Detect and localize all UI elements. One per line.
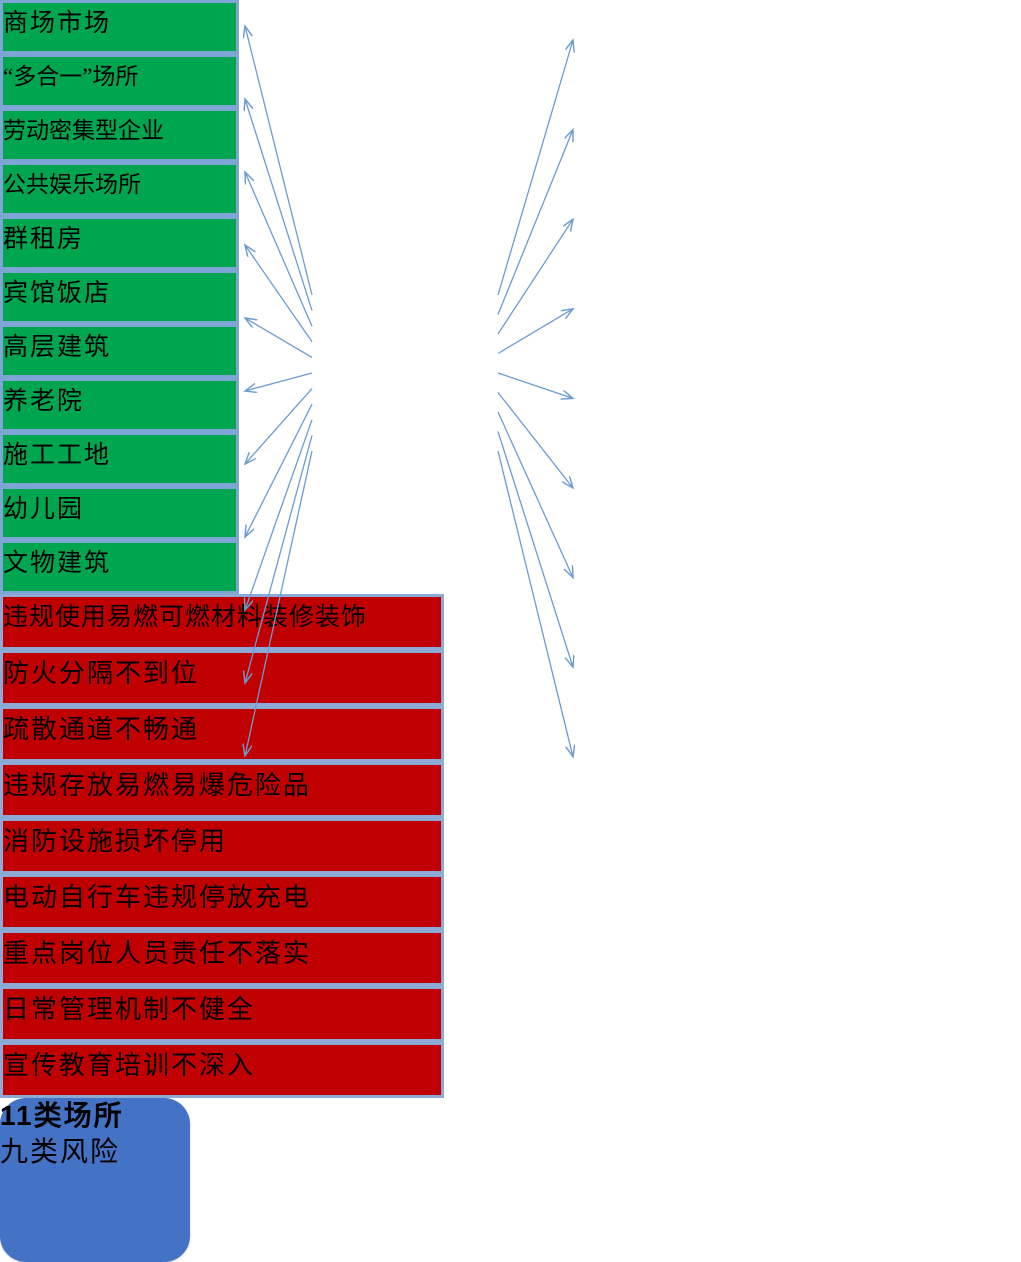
place-label: “多合一”场所 xyxy=(3,64,138,89)
place-node-1[interactable]: 商场市场 xyxy=(0,0,239,54)
place-label: 施工工地 xyxy=(3,442,111,469)
place-label: 高层建筑 xyxy=(3,334,111,361)
risk-node-8[interactable]: 日常管理机制不健全 xyxy=(0,986,444,1042)
center-hub-node[interactable]: 11类场所 九类风险 xyxy=(0,1098,190,1262)
risk-node-6[interactable]: 电动自行车违规停放充电 xyxy=(0,874,444,930)
place-node-7[interactable]: 高层建筑 xyxy=(0,324,239,378)
risk-node-5[interactable]: 消防设施损坏停用 xyxy=(0,818,444,874)
place-node-4[interactable]: 公共娱乐场所 xyxy=(0,162,239,216)
center-title-line2: 九类风险 xyxy=(0,1135,190,1172)
risk-node-3[interactable]: 疏散通道不畅通 xyxy=(0,706,444,762)
place-node-8[interactable]: 养老院 xyxy=(0,378,239,432)
place-label: 商场市场 xyxy=(3,10,111,37)
place-label: 幼儿园 xyxy=(3,496,84,523)
place-label: 群租房 xyxy=(3,226,84,253)
risk-node-4[interactable]: 违规存放易燃易爆危险品 xyxy=(0,762,444,818)
risk-node-9[interactable]: 宣传教育培训不深入 xyxy=(0,1042,444,1098)
risk-label: 宣传教育培训不深入 xyxy=(3,1051,255,1080)
risk-node-7[interactable]: 重点岗位人员责任不落实 xyxy=(0,930,444,986)
place-node-11[interactable]: 文物建筑 xyxy=(0,540,239,594)
diagram-canvas: 商场市场 “多合一”场所 劳动密集型企业 公共娱乐场所 群租房 宾馆饭店 高层建… xyxy=(0,0,1021,799)
center-title-line1: 11类场所 xyxy=(0,1098,190,1135)
place-label: 文物建筑 xyxy=(3,550,111,577)
place-label: 宾馆饭店 xyxy=(3,280,111,307)
risk-label: 重点岗位人员责任不落实 xyxy=(3,939,311,968)
place-label: 公共娱乐场所 xyxy=(3,172,141,197)
place-label: 养老院 xyxy=(3,388,84,415)
place-node-10[interactable]: 幼儿园 xyxy=(0,486,239,540)
risk-label: 防火分隔不到位 xyxy=(3,659,199,688)
risk-label: 日常管理机制不健全 xyxy=(3,995,255,1024)
place-node-2[interactable]: “多合一”场所 xyxy=(0,54,239,108)
risk-label: 电动自行车违规停放充电 xyxy=(3,883,311,912)
place-node-9[interactable]: 施工工地 xyxy=(0,432,239,486)
place-node-3[interactable]: 劳动密集型企业 xyxy=(0,108,239,162)
risk-label: 违规使用易燃可燃材料装修装饰 xyxy=(3,604,367,631)
risk-node-1[interactable]: 违规使用易燃可燃材料装修装饰 xyxy=(0,594,444,650)
risk-label: 违规存放易燃易爆危险品 xyxy=(3,771,311,800)
place-node-5[interactable]: 群租房 xyxy=(0,216,239,270)
risk-label: 消防设施损坏停用 xyxy=(3,827,227,856)
place-node-6[interactable]: 宾馆饭店 xyxy=(0,270,239,324)
risk-label: 疏散通道不畅通 xyxy=(3,715,199,744)
place-label: 劳动密集型企业 xyxy=(3,118,164,143)
risk-node-2[interactable]: 防火分隔不到位 xyxy=(0,650,444,706)
